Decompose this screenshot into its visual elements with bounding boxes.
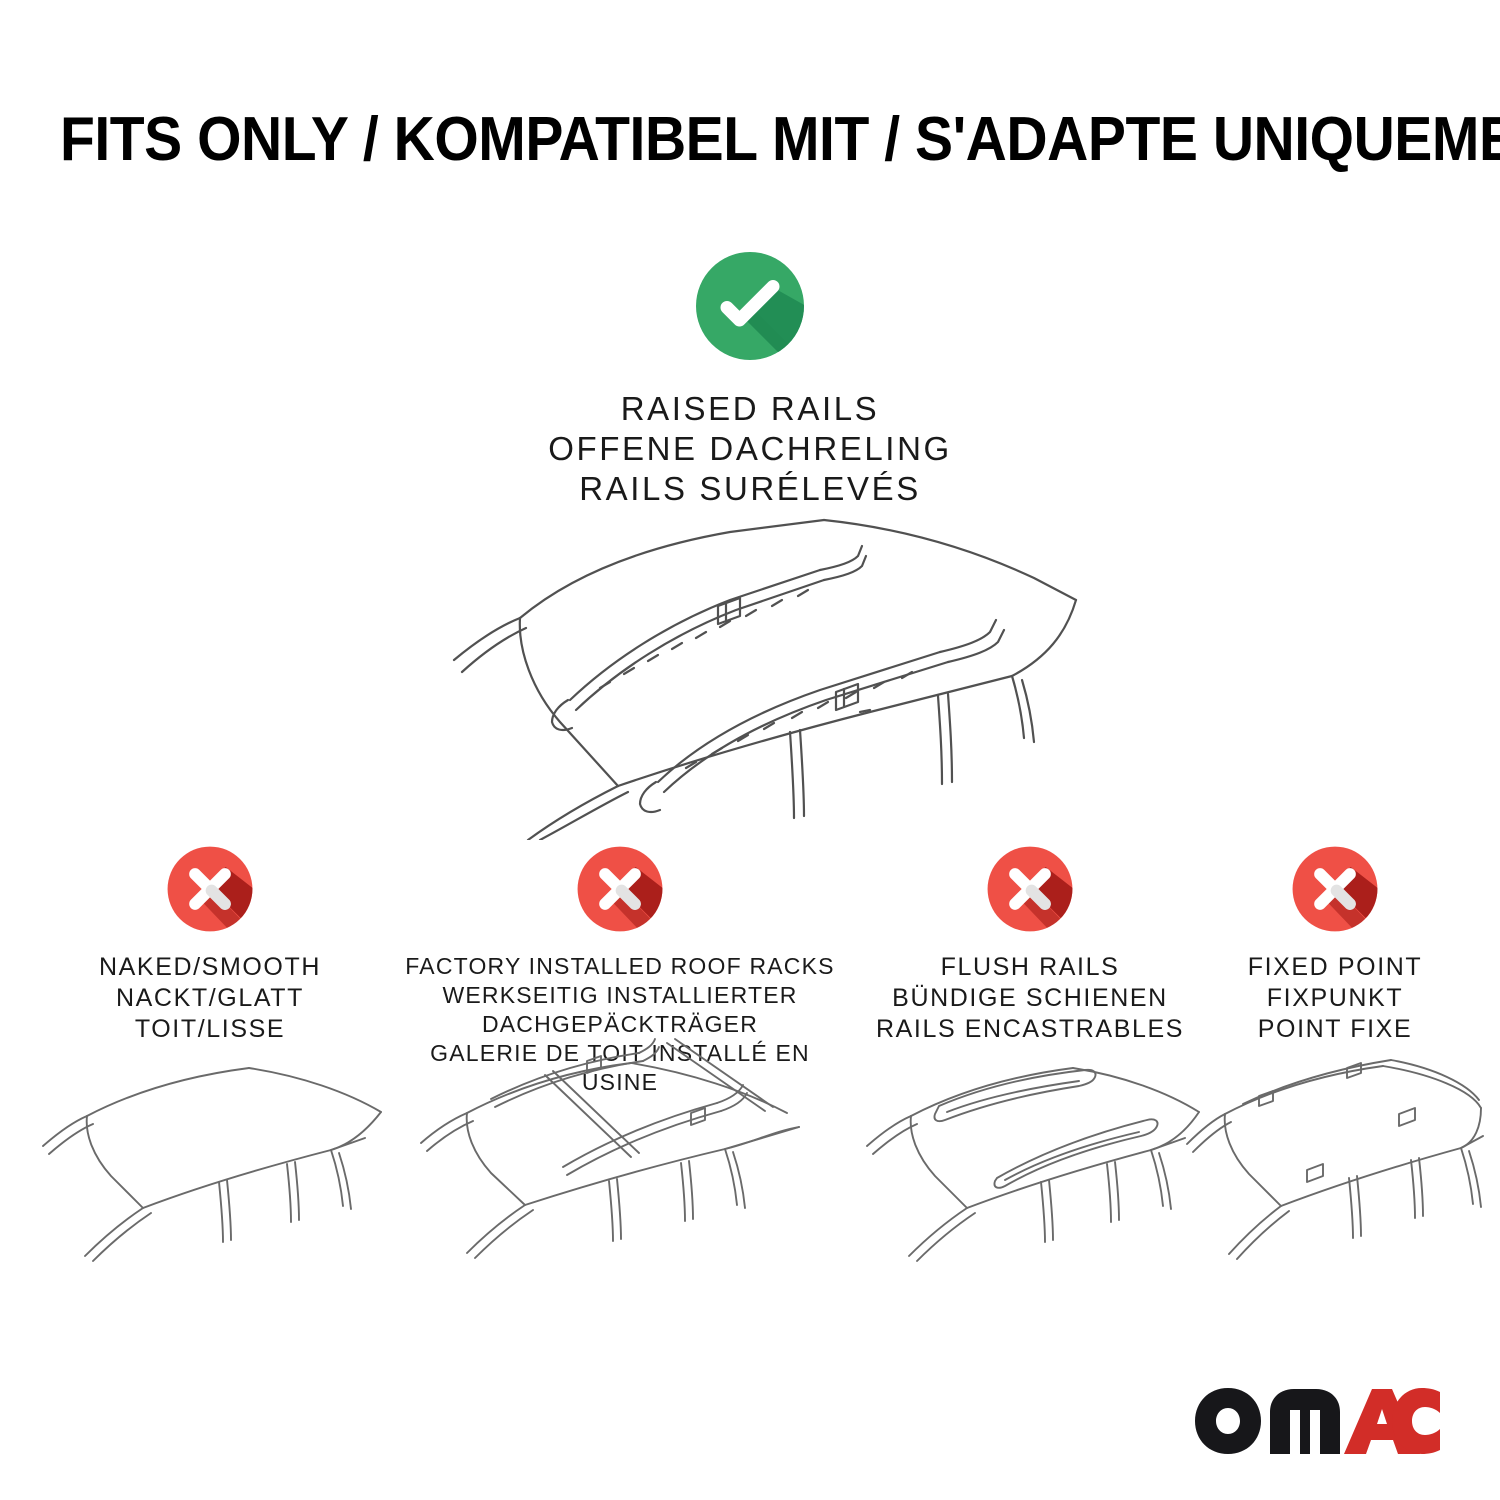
- compatible-label-en: RAISED RAILS: [0, 389, 1500, 429]
- fitment-chart: FITS ONLY / KOMPATIBEL MIT / S'ADAPTE UN…: [0, 0, 1500, 1500]
- page-title: FITS ONLY / KOMPATIBEL MIT / S'ADAPTE UN…: [60, 104, 1440, 175]
- label-line-en: FACTORY INSTALLED ROOF RACKS: [395, 952, 845, 981]
- check-circle-icon: [694, 250, 806, 362]
- car-roof-factory-racks-illustration: [395, 1035, 845, 1265]
- car-roof-naked-illustration: [25, 1050, 395, 1265]
- car-roof-fixed-point-illustration: [1185, 1050, 1485, 1265]
- label-line-de: BÜNDIGE SCHIENEN: [855, 983, 1205, 1014]
- x-circle-icon: [166, 845, 254, 933]
- compatible-label-de: OFFENE DACHRELING: [0, 429, 1500, 469]
- label-line-de: NACKT/GLATT: [25, 983, 395, 1014]
- incompatible-labels-naked: NAKED/SMOOTH NACKT/GLATT TOIT/LISSE: [25, 952, 395, 1045]
- incompatible-item-naked: NAKED/SMOOTH NACKT/GLATT TOIT/LISSE: [25, 845, 395, 1045]
- incompatible-labels-flush: FLUSH RAILS BÜNDIGE SCHIENEN RAILS ENCAS…: [855, 952, 1205, 1045]
- x-circle-icon: [576, 845, 664, 933]
- incompatible-item-fixed: FIXED POINT FIXPUNKT POINT FIXE: [1185, 845, 1485, 1045]
- car-roof-raised-rails-illustration: [400, 500, 1120, 840]
- compatible-labels: RAISED RAILS OFFENE DACHRELING RAILS SUR…: [0, 389, 1500, 509]
- incompatible-item-factory: FACTORY INSTALLED ROOF RACKS WERKSEITIG …: [395, 845, 845, 1097]
- label-line-en: NAKED/SMOOTH: [25, 952, 395, 983]
- label-line-en: FLUSH RAILS: [855, 952, 1205, 983]
- label-line-fr: POINT FIXE: [1185, 1014, 1485, 1045]
- incompatible-labels-fixed: FIXED POINT FIXPUNKT POINT FIXE: [1185, 952, 1485, 1045]
- label-line-en: FIXED POINT: [1185, 952, 1485, 983]
- label-line-de-1: WERKSEITIG INSTALLIERTER: [395, 981, 845, 1010]
- label-line-de: FIXPUNKT: [1185, 983, 1485, 1014]
- omac-logo: [1192, 1384, 1442, 1458]
- incompatible-row: NAKED/SMOOTH NACKT/GLATT TOIT/LISSE: [0, 845, 1500, 1465]
- compatible-block: RAISED RAILS OFFENE DACHRELING RAILS SUR…: [0, 250, 1500, 509]
- x-circle-icon: [1291, 845, 1379, 933]
- label-line-fr: TOIT/LISSE: [25, 1014, 395, 1045]
- label-line-fr: RAILS ENCASTRABLES: [855, 1014, 1205, 1045]
- incompatible-item-flush: FLUSH RAILS BÜNDIGE SCHIENEN RAILS ENCAS…: [855, 845, 1205, 1045]
- car-roof-flush-rails-illustration: [855, 1050, 1205, 1265]
- x-circle-icon: [986, 845, 1074, 933]
